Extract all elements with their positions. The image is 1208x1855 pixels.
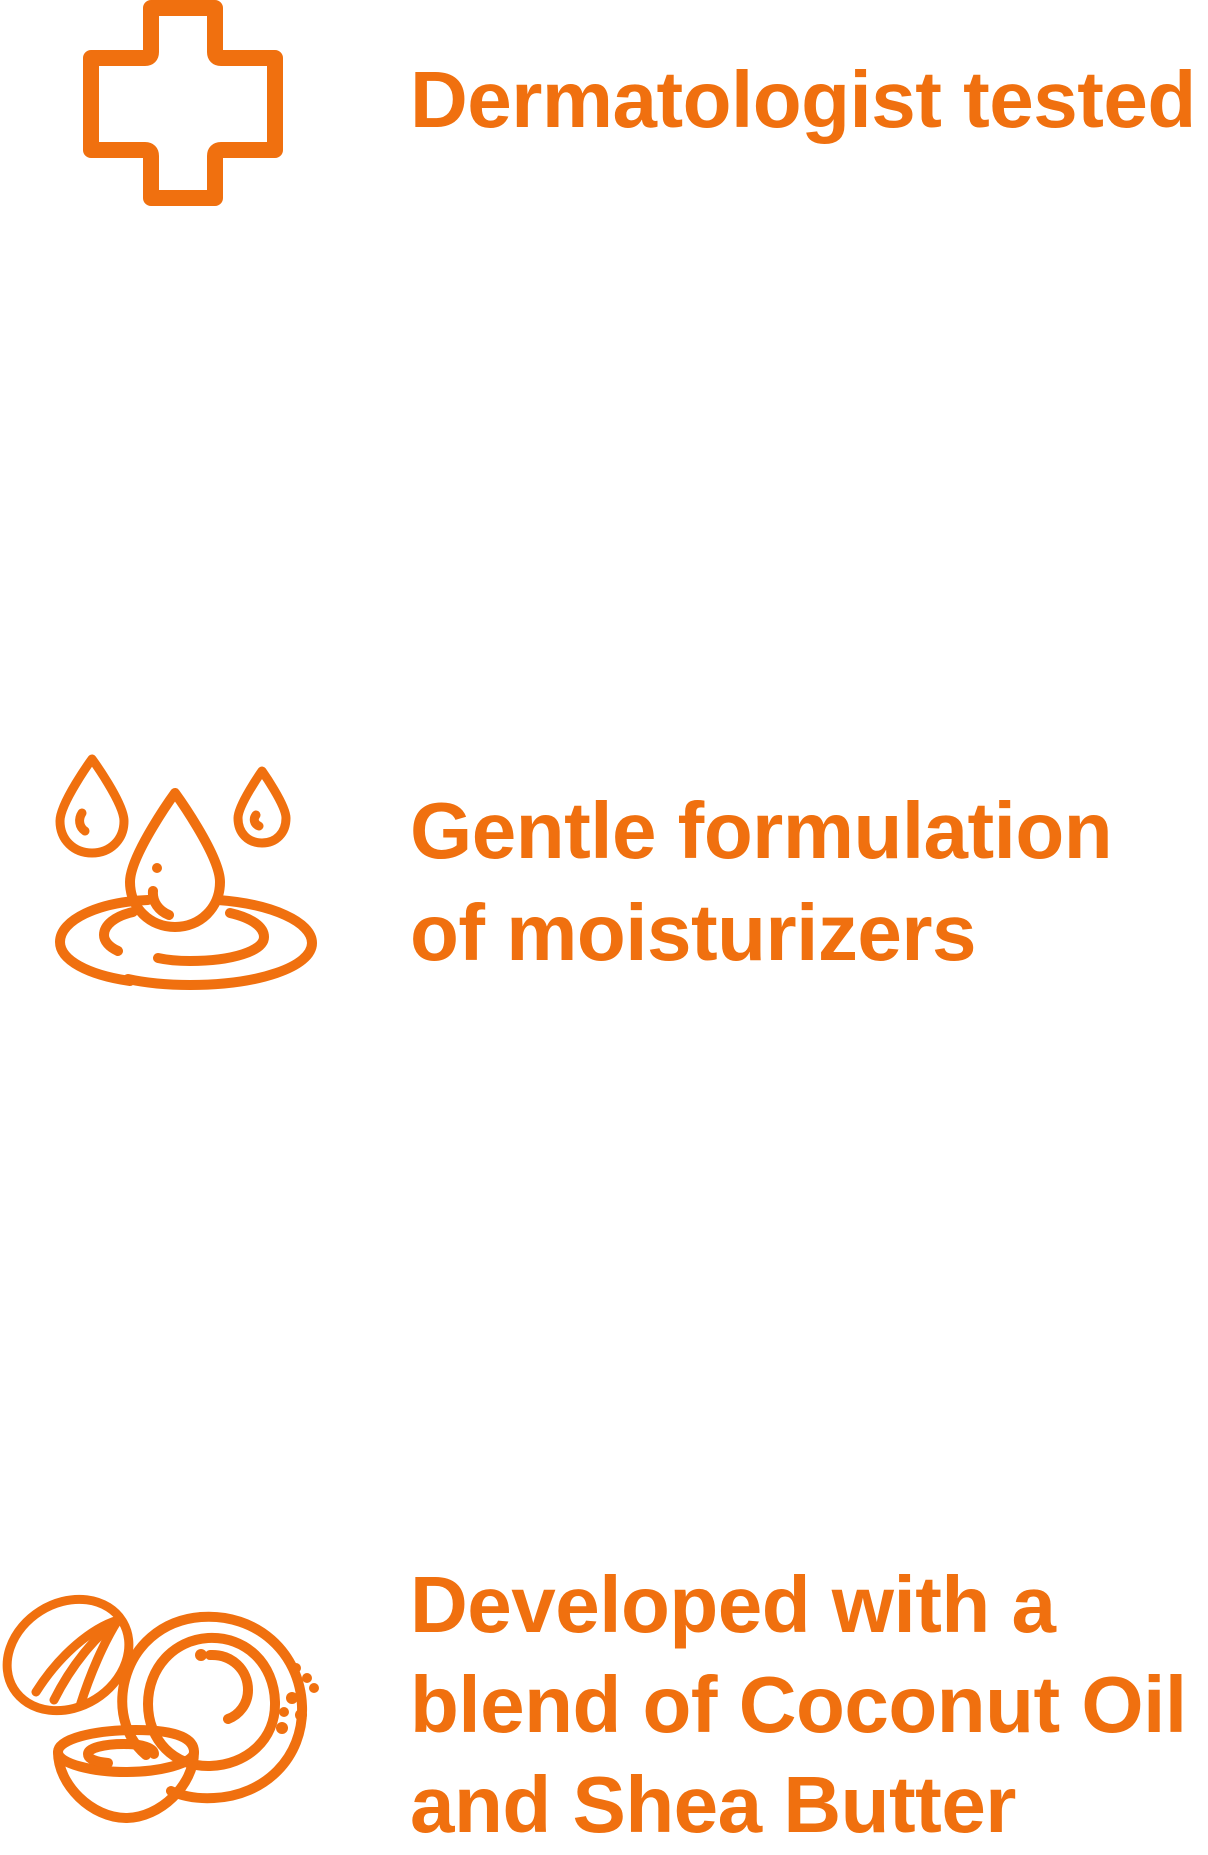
benefit-row-coconut-shea: Developed with a blend of Coconut Oil an… <box>0 750 1208 1080</box>
benefit-row-gentle-formulation: Gentle formulation of moisturizers <box>0 370 1208 750</box>
benefit-text-coconut-shea: Developed with a blend of Coconut Oil an… <box>410 1555 1187 1855</box>
benefit-row-dermatologist-tested: Dermatologist tested <box>0 0 1208 370</box>
coconut-icon <box>0 1580 336 1830</box>
benefit-text-dermatologist-tested: Dermatologist tested <box>410 56 1196 144</box>
benefits-panel: Dermatologist tested <box>0 0 1208 1080</box>
medical-cross-icon <box>76 0 290 210</box>
